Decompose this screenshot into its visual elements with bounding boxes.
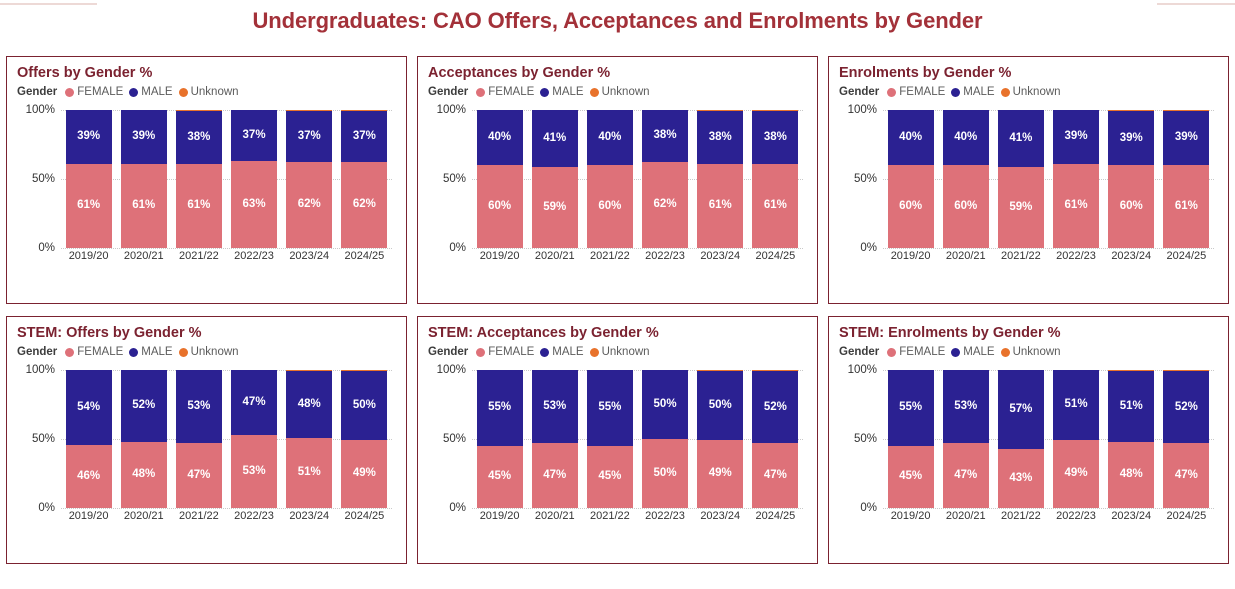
bar-value-label: 39% xyxy=(77,131,100,143)
legend-item-label: MALE xyxy=(963,346,994,358)
x-axis-tick-label: 2024/25 xyxy=(1163,250,1209,262)
y-axis-tick-label: 0% xyxy=(449,502,466,514)
bar-stack[interactable]: 50%50% xyxy=(642,370,688,508)
page-title: Undergraduates: CAO Offers, Acceptances … xyxy=(0,8,1235,34)
legend-item-label: FEMALE xyxy=(488,346,534,358)
chart-panel-stem-acceptances[interactable]: STEM: Acceptances by Gender %GenderFEMAL… xyxy=(417,316,818,564)
legend-swatch-icon xyxy=(540,348,549,357)
legend-title: Gender xyxy=(428,346,468,358)
bar-stack[interactable]: 40%60% xyxy=(888,110,934,248)
y-axis-tick-label: 100% xyxy=(848,364,877,376)
x-axis-tick-label: 2020/21 xyxy=(943,510,989,522)
bar-segment-female[interactable]: 48% xyxy=(1108,442,1154,508)
legend-swatch-icon xyxy=(887,348,896,357)
x-axis: 2019/202020/212021/222022/232023/242024/… xyxy=(61,510,392,532)
legend-item-label: Unknown xyxy=(602,346,650,358)
legend-item-label: Unknown xyxy=(191,86,239,98)
legend-item-female[interactable]: FEMALE xyxy=(65,346,123,358)
bar-segment-male[interactable]: 39% xyxy=(1108,111,1154,165)
bar-segment-female[interactable]: 50% xyxy=(642,439,688,508)
bar-stack[interactable]: 38%61% xyxy=(176,110,222,248)
legend-item-label: FEMALE xyxy=(488,86,534,98)
bar-value-label: 38% xyxy=(764,132,787,144)
x-axis-tick-label: 2021/22 xyxy=(587,510,633,522)
legend-item-unknown[interactable]: Unknown xyxy=(1001,86,1061,98)
legend-item-label: MALE xyxy=(963,86,994,98)
bar-segment-female[interactable]: 62% xyxy=(642,162,688,248)
page-top-rule-left xyxy=(0,3,97,5)
bar-stack[interactable]: 37%62% xyxy=(341,110,387,248)
bar-segment-female[interactable]: 48% xyxy=(121,442,167,508)
axis-area: 40%60%41%59%40%60%38%62%38%61%38%61% xyxy=(472,110,803,248)
bar-segment-male[interactable]: 38% xyxy=(697,111,743,163)
legend-item-male[interactable]: MALE xyxy=(129,346,172,358)
y-axis: 100%50%0% xyxy=(839,110,879,248)
bar-value-label: 38% xyxy=(654,130,677,142)
bar-stack[interactable]: 39%60% xyxy=(1108,110,1154,248)
legend-item-label: FEMALE xyxy=(899,86,945,98)
x-axis: 2019/202020/212021/222022/232023/242024/… xyxy=(472,510,803,532)
y-axis-tick-label: 0% xyxy=(38,242,55,254)
chart-panel-acceptances[interactable]: Acceptances by Gender %GenderFEMALEMALEU… xyxy=(417,56,818,304)
axis-area: 39%61%39%61%38%61%37%63%37%62%37%62% xyxy=(61,110,392,248)
bar-segment-male[interactable]: 39% xyxy=(1163,111,1209,164)
legend-item-label: Unknown xyxy=(602,86,650,98)
legend-swatch-icon xyxy=(1001,88,1010,97)
y-axis-tick-label: 100% xyxy=(26,364,55,376)
bar-value-label: 51% xyxy=(1065,399,1088,411)
gridline xyxy=(61,248,392,249)
gridline xyxy=(472,508,803,509)
legend-item-female[interactable]: FEMALE xyxy=(476,86,534,98)
x-axis-tick-label: 2019/20 xyxy=(888,250,934,262)
bar-segment-female[interactable]: 60% xyxy=(477,165,523,248)
bar-segment-female[interactable]: 61% xyxy=(121,164,167,248)
bar-value-label: 52% xyxy=(132,400,155,412)
bar-stack[interactable]: 50%49% xyxy=(697,370,743,508)
bar-segment-female[interactable]: 47% xyxy=(943,443,989,508)
y-axis-tick-label: 0% xyxy=(38,502,55,514)
bar-segment-female[interactable]: 60% xyxy=(943,165,989,248)
legend-swatch-icon xyxy=(65,88,74,97)
bar-value-label: 47% xyxy=(187,470,210,482)
legend-swatch-icon xyxy=(887,88,896,97)
bar-segment-male[interactable]: 55% xyxy=(888,370,934,446)
chart-legend: GenderFEMALEMALEUnknown xyxy=(839,346,1220,358)
x-axis-tick-label: 2022/23 xyxy=(231,250,277,262)
bar-value-label: 40% xyxy=(954,132,977,144)
bar-segment-male[interactable]: 38% xyxy=(642,110,688,162)
plot-area: 100%50%0%40%60%40%60%41%59%39%61%39%60%3… xyxy=(839,102,1220,274)
bar-value-label: 55% xyxy=(598,402,621,414)
bar-stack[interactable]: 38%62% xyxy=(642,110,688,248)
bar-value-label: 60% xyxy=(488,201,511,213)
bar-value-label: 60% xyxy=(899,201,922,213)
bar-stack[interactable]: 55%45% xyxy=(888,370,934,508)
bar-stack[interactable]: 41%59% xyxy=(998,110,1044,248)
bar-segment-female[interactable]: 46% xyxy=(66,445,112,508)
bar-segment-male[interactable]: 55% xyxy=(587,370,633,446)
bar-value-label: 43% xyxy=(1009,473,1032,485)
bar-segment-female[interactable]: 47% xyxy=(176,443,222,508)
plot-area: 100%50%0%39%61%39%61%38%61%37%63%37%62%3… xyxy=(17,102,398,274)
chart-row-bottom: STEM: Offers by Gender %GenderFEMALEMALE… xyxy=(6,316,1229,564)
legend-item-male[interactable]: MALE xyxy=(951,346,994,358)
bar-series: 54%46%52%48%53%47%47%53%48%51%50%49% xyxy=(61,370,392,508)
bar-value-label: 49% xyxy=(709,468,732,480)
bar-series: 55%45%53%47%55%45%50%50%50%49%52%47% xyxy=(472,370,803,508)
bar-value-label: 49% xyxy=(353,468,376,480)
bar-value-label: 62% xyxy=(298,199,321,211)
bar-value-label: 55% xyxy=(899,402,922,414)
bar-value-label: 61% xyxy=(764,200,787,212)
legend-swatch-icon xyxy=(476,88,485,97)
bar-value-label: 52% xyxy=(764,402,787,414)
bar-stack[interactable]: 51%49% xyxy=(1053,370,1099,508)
legend-swatch-icon xyxy=(540,88,549,97)
bar-value-label: 55% xyxy=(488,402,511,414)
bar-value-label: 37% xyxy=(353,131,376,143)
legend-item-female[interactable]: FEMALE xyxy=(887,346,945,358)
bar-segment-female[interactable]: 43% xyxy=(998,449,1044,508)
x-axis-tick-label: 2023/24 xyxy=(1108,510,1154,522)
legend-item-label: Unknown xyxy=(1013,86,1061,98)
bar-stack[interactable]: 52%47% xyxy=(752,370,798,508)
bar-stack[interactable]: 39%61% xyxy=(1053,110,1099,248)
x-axis-tick-label: 2019/20 xyxy=(477,250,523,262)
y-axis-tick-label: 50% xyxy=(32,433,55,445)
x-axis-tick-label: 2024/25 xyxy=(752,510,798,522)
bar-stack[interactable]: 57%43% xyxy=(998,370,1044,508)
x-axis-tick-label: 2021/22 xyxy=(176,510,222,522)
bar-segment-female[interactable]: 61% xyxy=(1053,164,1099,248)
bar-stack[interactable]: 39%61% xyxy=(1163,110,1209,248)
legend-item-label: FEMALE xyxy=(899,346,945,358)
legend-item-unknown[interactable]: Unknown xyxy=(590,86,650,98)
axis-area: 55%45%53%47%57%43%51%49%51%48%52%47% xyxy=(883,370,1214,508)
y-axis-tick-label: 0% xyxy=(449,242,466,254)
bar-stack[interactable]: 55%45% xyxy=(587,370,633,508)
bar-segment-male[interactable]: 57% xyxy=(998,370,1044,449)
x-axis-tick-label: 2023/24 xyxy=(286,510,332,522)
bar-segment-male[interactable]: 54% xyxy=(66,370,112,445)
bar-value-label: 40% xyxy=(488,132,511,144)
bar-segment-male[interactable]: 52% xyxy=(752,371,798,443)
legend-swatch-icon xyxy=(951,348,960,357)
bar-stack[interactable]: 51%48% xyxy=(1108,370,1154,508)
bar-stack[interactable]: 40%60% xyxy=(587,110,633,248)
bar-segment-female[interactable]: 51% xyxy=(286,438,332,508)
x-axis-tick-label: 2021/22 xyxy=(587,250,633,262)
bar-segment-female[interactable]: 61% xyxy=(66,164,112,248)
bar-value-label: 60% xyxy=(598,201,621,213)
chart-legend: GenderFEMALEMALEUnknown xyxy=(428,346,809,358)
bar-segment-male[interactable]: 41% xyxy=(998,110,1044,167)
bar-segment-female[interactable]: 45% xyxy=(888,446,934,508)
legend-item-unknown[interactable]: Unknown xyxy=(179,346,239,358)
bar-value-label: 38% xyxy=(187,132,210,144)
bar-segment-male[interactable]: 50% xyxy=(697,371,743,440)
gridline xyxy=(61,508,392,509)
bar-segment-male[interactable]: 53% xyxy=(943,370,989,443)
gridline xyxy=(472,248,803,249)
legend-item-label: FEMALE xyxy=(77,86,123,98)
legend-swatch-icon xyxy=(129,348,138,357)
chart-panel-offers[interactable]: Offers by Gender %GenderFEMALEMALEUnknow… xyxy=(6,56,407,304)
bar-segment-male[interactable]: 40% xyxy=(943,110,989,165)
bar-stack[interactable]: 37%62% xyxy=(286,110,332,248)
bar-value-label: 48% xyxy=(1120,469,1143,481)
legend-item-male[interactable]: MALE xyxy=(951,86,994,98)
legend-swatch-icon xyxy=(1001,348,1010,357)
y-axis: 100%50%0% xyxy=(17,370,57,508)
bar-segment-male[interactable]: 37% xyxy=(341,111,387,162)
x-axis-tick-label: 2020/21 xyxy=(532,250,578,262)
bar-series: 40%60%40%60%41%59%39%61%39%60%39%61% xyxy=(883,110,1214,248)
legend-item-unknown[interactable]: Unknown xyxy=(590,346,650,358)
chart-panel-stem-enrolments[interactable]: STEM: Enrolments by Gender %GenderFEMALE… xyxy=(828,316,1229,564)
bar-stack[interactable]: 39%61% xyxy=(121,110,167,248)
legend-item-label: FEMALE xyxy=(77,346,123,358)
bar-segment-female[interactable]: 61% xyxy=(1163,165,1209,248)
x-axis-tick-label: 2023/24 xyxy=(697,250,743,262)
panel-title: STEM: Acceptances by Gender % xyxy=(428,324,809,342)
bar-value-label: 52% xyxy=(1175,402,1198,414)
bar-stack[interactable]: 54%46% xyxy=(66,370,112,508)
x-axis-tick-label: 2021/22 xyxy=(998,510,1044,522)
legend-item-label: MALE xyxy=(141,346,172,358)
bar-value-label: 61% xyxy=(1065,200,1088,212)
chart-legend: GenderFEMALEMALEUnknown xyxy=(839,86,1220,98)
y-axis-tick-label: 50% xyxy=(854,433,877,445)
bar-stack[interactable]: 37%63% xyxy=(231,110,277,248)
x-axis-tick-label: 2022/23 xyxy=(1053,250,1099,262)
bar-stack[interactable]: 53%47% xyxy=(943,370,989,508)
bar-value-label: 50% xyxy=(709,400,732,412)
bar-segment-male[interactable]: 38% xyxy=(752,111,798,163)
bar-segment-female[interactable]: 59% xyxy=(532,167,578,248)
bar-stack[interactable]: 38%61% xyxy=(752,110,798,248)
bar-segment-male[interactable]: 51% xyxy=(1108,371,1154,441)
plot-area: 100%50%0%55%45%53%47%57%43%51%49%51%48%5… xyxy=(839,362,1220,534)
x-axis-tick-label: 2020/21 xyxy=(121,510,167,522)
plot-area: 100%50%0%40%60%41%59%40%60%38%62%38%61%3… xyxy=(428,102,809,274)
legend-item-unknown[interactable]: Unknown xyxy=(179,86,239,98)
bar-segment-female[interactable]: 61% xyxy=(176,164,222,248)
bar-value-label: 51% xyxy=(298,467,321,479)
panel-title: STEM: Offers by Gender % xyxy=(17,324,398,342)
x-axis-tick-label: 2020/21 xyxy=(943,250,989,262)
bar-segment-male[interactable]: 40% xyxy=(888,110,934,165)
bar-stack[interactable]: 40%60% xyxy=(943,110,989,248)
bar-segment-male[interactable]: 48% xyxy=(286,371,332,437)
legend-item-male[interactable]: MALE xyxy=(129,86,172,98)
x-axis-tick-label: 2024/25 xyxy=(752,250,798,262)
bar-segment-female[interactable]: 49% xyxy=(341,440,387,508)
bar-segment-female[interactable]: 53% xyxy=(231,435,277,508)
x-axis-tick-label: 2020/21 xyxy=(532,510,578,522)
bar-value-label: 39% xyxy=(1175,132,1198,144)
x-axis-tick-label: 2022/23 xyxy=(1053,510,1099,522)
bar-segment-male[interactable]: 39% xyxy=(121,110,167,164)
legend-item-female[interactable]: FEMALE xyxy=(65,86,123,98)
bar-segment-male[interactable]: 39% xyxy=(66,110,112,164)
bar-segment-male[interactable]: 53% xyxy=(176,370,222,443)
bar-series: 40%60%41%59%40%60%38%62%38%61%38%61% xyxy=(472,110,803,248)
bar-segment-female[interactable]: 60% xyxy=(888,165,934,248)
bar-stack[interactable]: 47%53% xyxy=(231,370,277,508)
bar-value-label: 50% xyxy=(654,399,677,411)
bar-value-label: 37% xyxy=(298,131,321,143)
x-axis-tick-label: 2021/22 xyxy=(998,250,1044,262)
bar-value-label: 53% xyxy=(543,401,566,413)
bar-segment-female[interactable]: 59% xyxy=(998,167,1044,248)
bar-segment-male[interactable]: 40% xyxy=(587,110,633,165)
bar-segment-male[interactable]: 40% xyxy=(477,110,523,165)
bar-value-label: 49% xyxy=(1065,468,1088,480)
y-axis: 100%50%0% xyxy=(428,370,468,508)
legend-swatch-icon xyxy=(65,348,74,357)
bar-value-label: 47% xyxy=(243,397,266,409)
y-axis: 100%50%0% xyxy=(839,370,879,508)
bar-value-label: 41% xyxy=(1009,133,1032,145)
bar-segment-female[interactable]: 49% xyxy=(697,440,743,508)
bar-segment-male[interactable]: 50% xyxy=(642,370,688,439)
legend-swatch-icon xyxy=(179,348,188,357)
bar-segment-male[interactable]: 52% xyxy=(121,370,167,442)
bar-value-label: 61% xyxy=(187,200,210,212)
bar-segment-female[interactable]: 60% xyxy=(1108,165,1154,248)
bar-stack[interactable]: 41%59% xyxy=(532,110,578,248)
legend-item-male[interactable]: MALE xyxy=(540,86,583,98)
bar-segment-male[interactable]: 52% xyxy=(1163,371,1209,443)
chart-legend: GenderFEMALEMALEUnknown xyxy=(428,86,809,98)
x-axis-tick-label: 2022/23 xyxy=(642,250,688,262)
bar-segment-female[interactable]: 61% xyxy=(697,164,743,248)
panel-title: STEM: Enrolments by Gender % xyxy=(839,324,1220,342)
bar-value-label: 61% xyxy=(132,200,155,212)
bar-segment-female[interactable]: 45% xyxy=(587,446,633,508)
legend-title: Gender xyxy=(428,86,468,98)
x-axis: 2019/202020/212021/222022/232023/242024/… xyxy=(883,250,1214,272)
bar-segment-female[interactable]: 61% xyxy=(752,164,798,248)
bar-series: 55%45%53%47%57%43%51%49%51%48%52%47% xyxy=(883,370,1214,508)
y-axis-tick-label: 100% xyxy=(848,104,877,116)
legend-item-female[interactable]: FEMALE xyxy=(476,346,534,358)
bar-segment-male[interactable]: 38% xyxy=(176,111,222,163)
bar-segment-female[interactable]: 63% xyxy=(231,161,277,248)
bar-stack[interactable]: 52%47% xyxy=(1163,370,1209,508)
bar-segment-female[interactable]: 47% xyxy=(1163,443,1209,508)
bar-value-label: 53% xyxy=(954,401,977,413)
bar-value-label: 57% xyxy=(1009,404,1032,416)
x-axis: 2019/202020/212021/222022/232023/242024/… xyxy=(883,510,1214,532)
bar-segment-male[interactable]: 53% xyxy=(532,370,578,443)
bar-value-label: 50% xyxy=(353,400,376,412)
bar-stack[interactable]: 38%61% xyxy=(697,110,743,248)
axis-area: 54%46%52%48%53%47%47%53%48%51%50%49% xyxy=(61,370,392,508)
legend-title: Gender xyxy=(839,346,879,358)
legend-title: Gender xyxy=(17,86,57,98)
legend-item-female[interactable]: FEMALE xyxy=(887,86,945,98)
bar-segment-male[interactable]: 47% xyxy=(231,370,277,435)
bar-stack[interactable]: 40%60% xyxy=(477,110,523,248)
bar-stack[interactable]: 53%47% xyxy=(532,370,578,508)
bar-value-label: 45% xyxy=(488,471,511,483)
plot-area: 100%50%0%54%46%52%48%53%47%47%53%48%51%5… xyxy=(17,362,398,534)
x-axis-tick-label: 2019/20 xyxy=(477,510,523,522)
bar-value-label: 59% xyxy=(543,202,566,214)
bar-segment-female[interactable]: 62% xyxy=(341,162,387,248)
bar-segment-female[interactable]: 60% xyxy=(587,165,633,248)
bar-stack[interactable]: 48%51% xyxy=(286,370,332,508)
bar-segment-male[interactable]: 55% xyxy=(477,370,523,446)
y-axis-tick-label: 100% xyxy=(437,364,466,376)
legend-item-unknown[interactable]: Unknown xyxy=(1001,346,1061,358)
chart-grid: Offers by Gender %GenderFEMALEMALEUnknow… xyxy=(6,56,1229,564)
bar-stack[interactable]: 55%45% xyxy=(477,370,523,508)
bar-stack[interactable]: 50%49% xyxy=(341,370,387,508)
y-axis-tick-label: 100% xyxy=(26,104,55,116)
axis-area: 40%60%40%60%41%59%39%61%39%60%39%61% xyxy=(883,110,1214,248)
bar-value-label: 54% xyxy=(77,402,100,414)
bar-value-label: 40% xyxy=(598,132,621,144)
bar-series: 39%61%39%61%38%61%37%63%37%62%37%62% xyxy=(61,110,392,248)
bar-value-label: 61% xyxy=(709,200,732,212)
x-axis-tick-label: 2024/25 xyxy=(1163,510,1209,522)
gridline xyxy=(883,248,1214,249)
legend-swatch-icon xyxy=(590,348,599,357)
bar-segment-female[interactable]: 49% xyxy=(1053,440,1099,508)
bar-segment-female[interactable]: 47% xyxy=(752,443,798,508)
bar-stack[interactable]: 39%61% xyxy=(66,110,112,248)
y-axis-tick-label: 100% xyxy=(437,104,466,116)
y-axis-tick-label: 50% xyxy=(854,173,877,185)
bar-segment-female[interactable]: 62% xyxy=(286,162,332,248)
legend-item-label: MALE xyxy=(552,346,583,358)
x-axis: 2019/202020/212021/222022/232023/242024/… xyxy=(472,250,803,272)
bar-segment-male[interactable]: 37% xyxy=(286,111,332,162)
legend-title: Gender xyxy=(17,346,57,358)
bar-value-label: 38% xyxy=(709,132,732,144)
bar-stack[interactable]: 53%47% xyxy=(176,370,222,508)
gridline xyxy=(883,508,1214,509)
x-axis-tick-label: 2023/24 xyxy=(697,510,743,522)
bar-segment-female[interactable]: 47% xyxy=(532,443,578,508)
legend-item-label: MALE xyxy=(552,86,583,98)
chart-panel-stem-offers[interactable]: STEM: Offers by Gender %GenderFEMALEMALE… xyxy=(6,316,407,564)
bar-value-label: 60% xyxy=(954,201,977,213)
x-axis-tick-label: 2020/21 xyxy=(121,250,167,262)
legend-item-male[interactable]: MALE xyxy=(540,346,583,358)
panel-title: Enrolments by Gender % xyxy=(839,64,1220,82)
y-axis: 100%50%0% xyxy=(17,110,57,248)
chart-panel-enrolments[interactable]: Enrolments by Gender %GenderFEMALEMALEUn… xyxy=(828,56,1229,304)
chart-row-top: Offers by Gender %GenderFEMALEMALEUnknow… xyxy=(6,56,1229,304)
axis-area: 55%45%53%47%55%45%50%50%50%49%52%47% xyxy=(472,370,803,508)
y-axis-tick-label: 50% xyxy=(32,173,55,185)
bar-segment-male[interactable]: 37% xyxy=(231,110,277,161)
bar-segment-male[interactable]: 41% xyxy=(532,110,578,167)
bar-segment-female[interactable]: 45% xyxy=(477,446,523,508)
bar-value-label: 39% xyxy=(1065,131,1088,143)
bar-segment-male[interactable]: 39% xyxy=(1053,110,1099,164)
bar-segment-male[interactable]: 51% xyxy=(1053,370,1099,440)
bar-segment-male[interactable]: 50% xyxy=(341,371,387,440)
bar-value-label: 46% xyxy=(77,471,100,483)
bar-stack[interactable]: 52%48% xyxy=(121,370,167,508)
bar-value-label: 47% xyxy=(764,470,787,482)
